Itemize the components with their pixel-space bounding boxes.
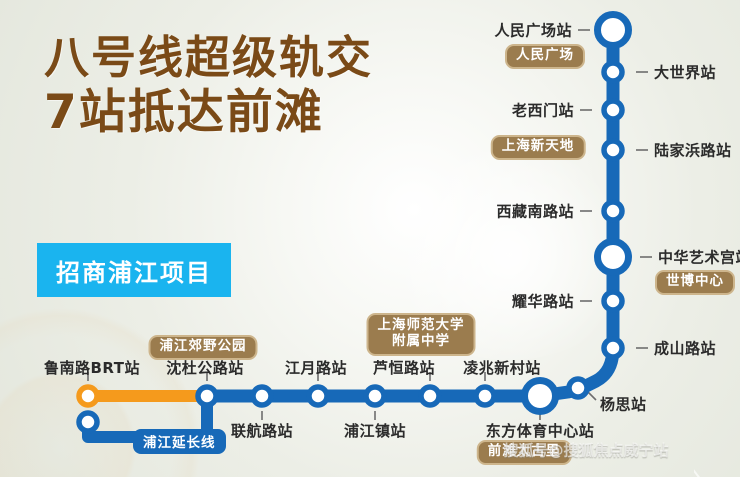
node-lianhanglu[interactable] [253,387,271,405]
station-label-yaohualu: 耀华路站 [512,291,574,312]
node-luhenglu[interactable] [421,387,439,405]
poi-badge-shibo-zhongxin: 世博中心 [655,270,735,295]
station-label-laoximen: 老西门站 [512,100,574,121]
node-lingzhaoxincun[interactable] [476,387,494,405]
node-yaohualu[interactable] [604,292,622,310]
poi-badge-pujiang-jiaoye-gongyuan: 浦江郊野公园 [149,335,258,360]
station-label-renmin-guangchang: 人民广场站 [494,20,572,41]
station-label-luhenglu: 芦恒路站 [373,357,435,378]
poi-line-2: 附属中学 [378,334,465,350]
station-label-shendugonglu: 沈杜公路站 [166,357,244,378]
node-chengshanlu[interactable] [604,339,622,357]
station-label-lujiabanglu: 陆家浜路站 [654,140,732,161]
node-lujiabanglu[interactable] [604,141,622,159]
station-label-zhonghua-yishugong: 中华艺术宫站 [658,247,740,268]
poi-badge-shanghai-shifan-daxue: 上海师范大学 附属中学 [367,313,476,356]
station-label-lunanlu-brt: 鲁南路BRT站 [44,357,140,378]
station-label-dashijie: 大世界站 [654,62,716,83]
node-yangsi[interactable] [569,379,587,397]
node-xizangnanlu[interactable] [604,202,622,220]
station-label-xizangnanlu: 西藏南路站 [496,201,574,222]
station-label-dongfang-tiyu-zhongxin: 东方体育中心站 [486,420,595,441]
station-label-lianhanglu: 联航路站 [231,420,293,441]
node-shendugonglu[interactable] [198,387,216,405]
station-label-chengshanlu: 成山路站 [654,338,716,359]
poi-badge-qiantan-taikooli: 前滩太古里 [477,440,572,465]
infographic-canvas: 八号线超级轨交 7站抵达前滩 招商浦江项目 [0,0,740,477]
poi-line-1: 上海师范大学 [378,318,465,334]
station-label-yangsi: 杨思站 [600,394,647,415]
node-dongfang-tiyu-zhongxin[interactable] [525,381,556,412]
poi-badge-renmin-guangchang: 人民广场 [505,44,585,69]
station-label-lingzhaoxincun: 凌兆新村站 [463,357,541,378]
node-pujiang-extension-terminus[interactable] [79,413,97,431]
extension-line-label: 浦江延长线 [133,429,226,454]
node-jiangyuelu[interactable] [309,387,327,405]
node-zhonghua-yishugong[interactable] [598,242,629,273]
station-label-jiangyuelu: 江月路站 [285,357,347,378]
node-pujiangzhen[interactable] [366,387,384,405]
node-lunanlu-brt[interactable] [79,387,97,405]
station-label-pujiangzhen: 浦江镇站 [344,420,406,441]
node-dashijie[interactable] [604,63,622,81]
node-laoximen[interactable] [604,101,622,119]
node-renmin-guangchang[interactable] [598,15,629,46]
poi-badge-shanghai-xintiandi: 上海新天地 [491,135,586,160]
